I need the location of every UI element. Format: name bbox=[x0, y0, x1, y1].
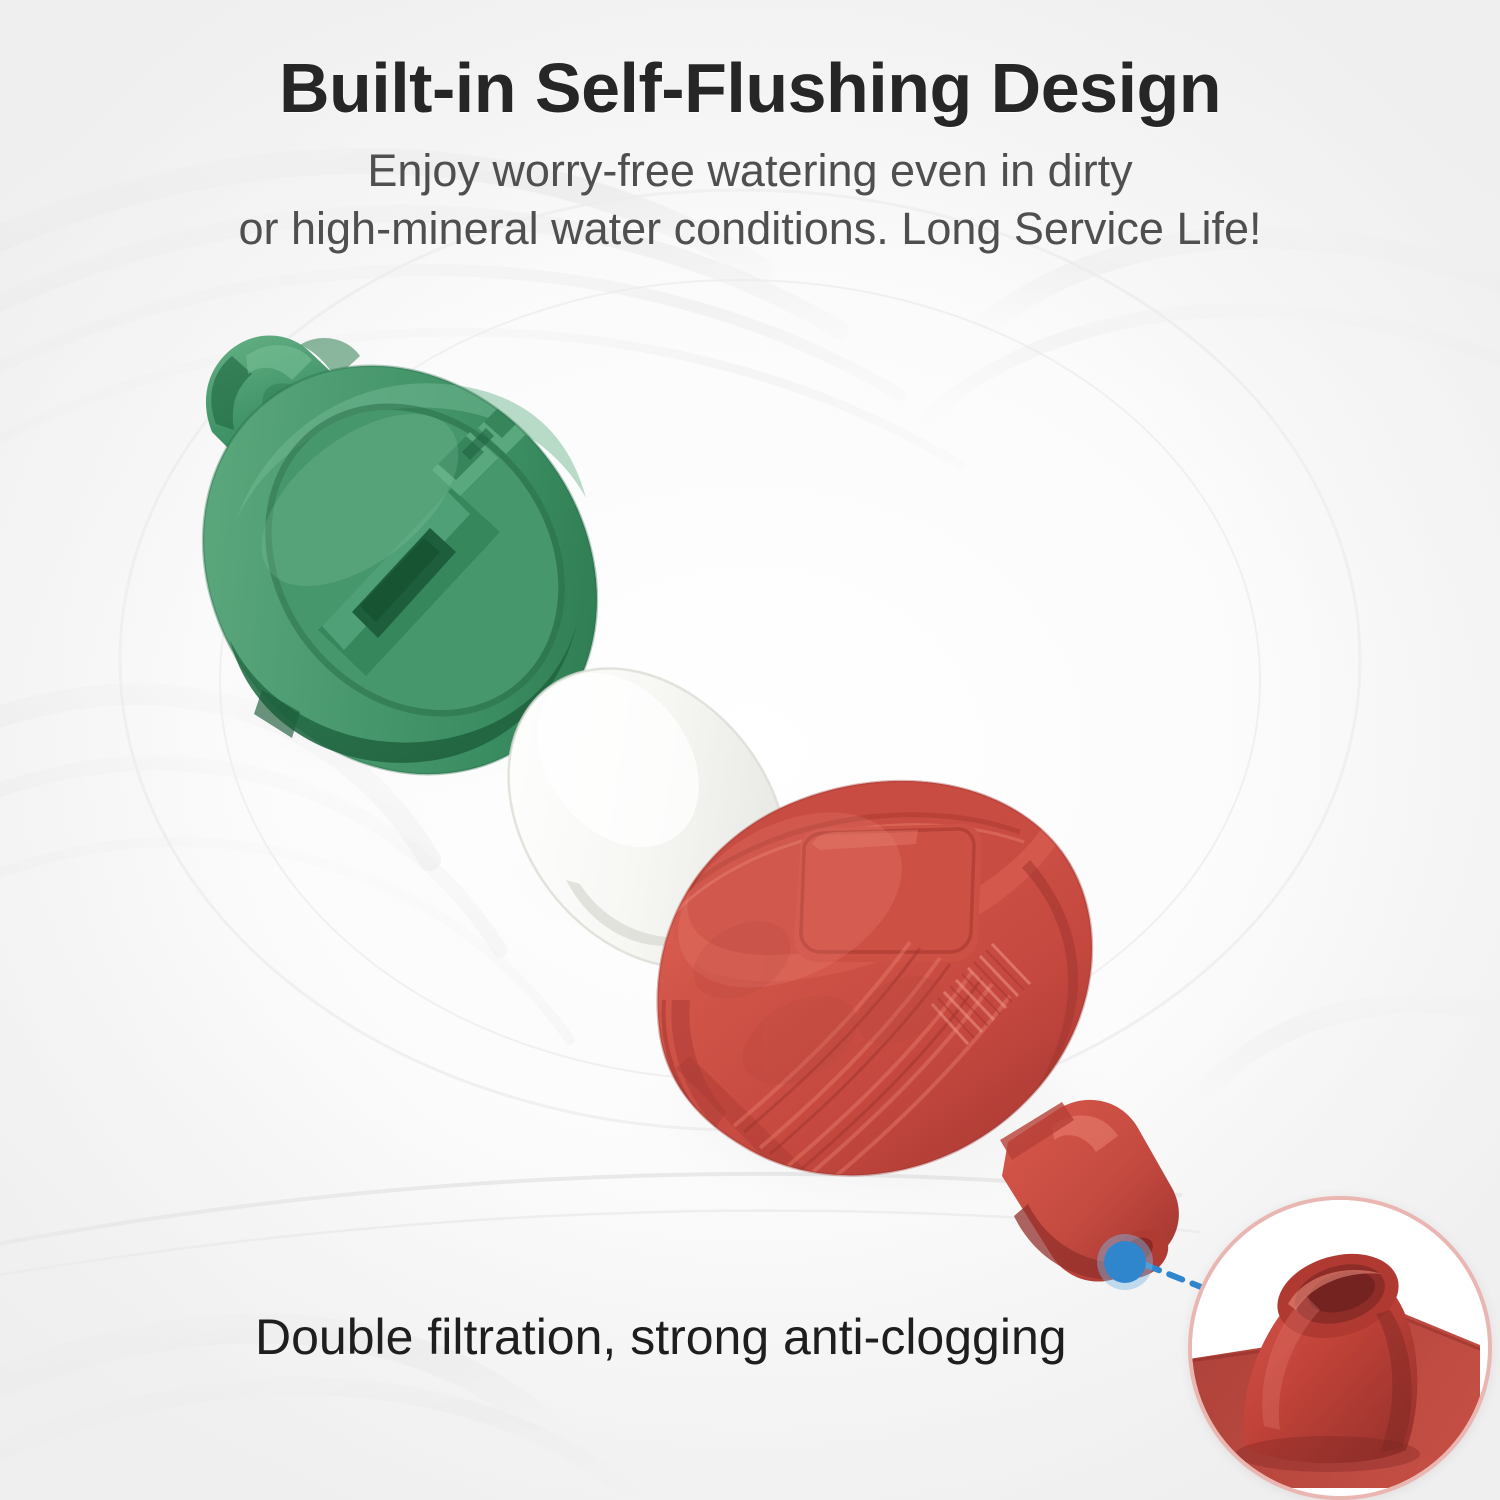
nozzle-magnifier bbox=[1188, 1196, 1492, 1500]
nozzle-hotspot-marker[interactable] bbox=[1097, 1234, 1153, 1290]
product-feature-poster: Built-in Self-Flushing Design Enjoy worr… bbox=[0, 0, 1500, 1500]
hotspot-core bbox=[1104, 1241, 1146, 1283]
